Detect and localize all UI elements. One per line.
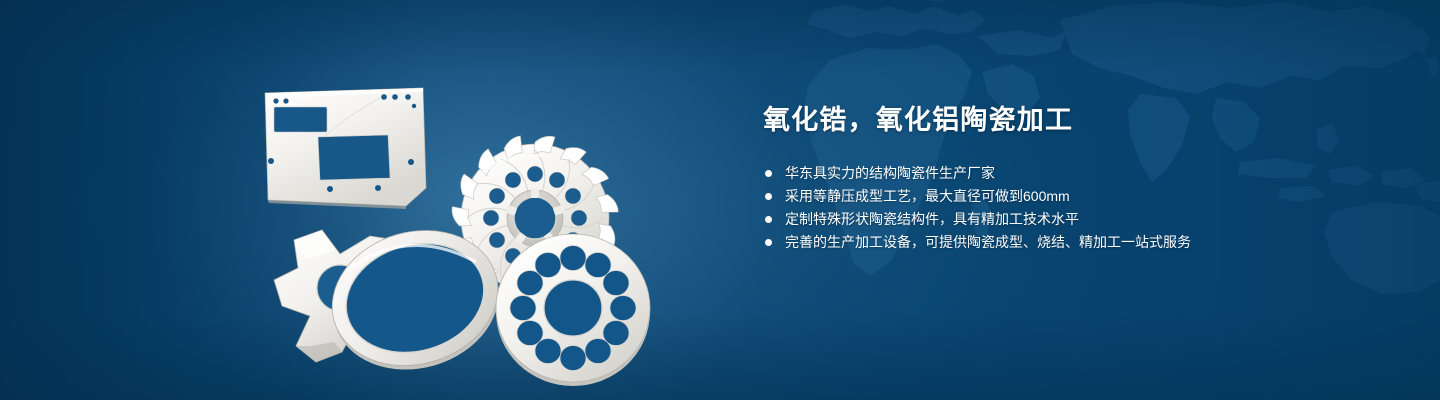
feature-list-item: 采用等静压成型工艺，最大直径可做到600mm (763, 185, 1383, 208)
feature-text: 完善的生产加工设备，可提供陶瓷成型、烧结、精加工一站式服务 (785, 234, 1191, 250)
ceramic-products-photo (230, 40, 690, 380)
ceramic-processing-banner: 氧化锆，氧化铝陶瓷加工 华东具实力的结构陶瓷件生产厂家 采用等静压成型工艺，最大… (0, 0, 1440, 400)
feature-list-item: 华东具实力的结构陶瓷件生产厂家 (763, 162, 1383, 185)
feature-list-item: 定制特殊形状陶瓷结构件，具有精加工技术水平 (763, 208, 1383, 231)
feature-text: 定制特殊形状陶瓷结构件，具有精加工技术水平 (785, 211, 1079, 227)
feature-text: 华东具实力的结构陶瓷件生产厂家 (785, 165, 995, 181)
bullet-dot-icon (765, 216, 772, 223)
machined-ceramic-plate (265, 88, 426, 209)
banner-headline: 氧化锆，氧化铝陶瓷加工 (763, 104, 1383, 136)
perforated-ceramic-disc (496, 234, 650, 386)
bullet-dot-icon (765, 170, 772, 177)
bullet-dot-icon (765, 239, 772, 246)
banner-feature-list: 华东具实力的结构陶瓷件生产厂家 采用等静压成型工艺，最大直径可做到600mm 定… (763, 162, 1383, 254)
feature-list-item: 完善的生产加工设备，可提供陶瓷成型、烧结、精加工一站式服务 (763, 231, 1383, 254)
feature-text: 采用等静压成型工艺，最大直径可做到600mm (785, 188, 1070, 204)
bullet-dot-icon (765, 193, 772, 200)
banner-copy-block: 氧化锆，氧化铝陶瓷加工 华东具实力的结构陶瓷件生产厂家 采用等静压成型工艺，最大… (763, 104, 1383, 254)
